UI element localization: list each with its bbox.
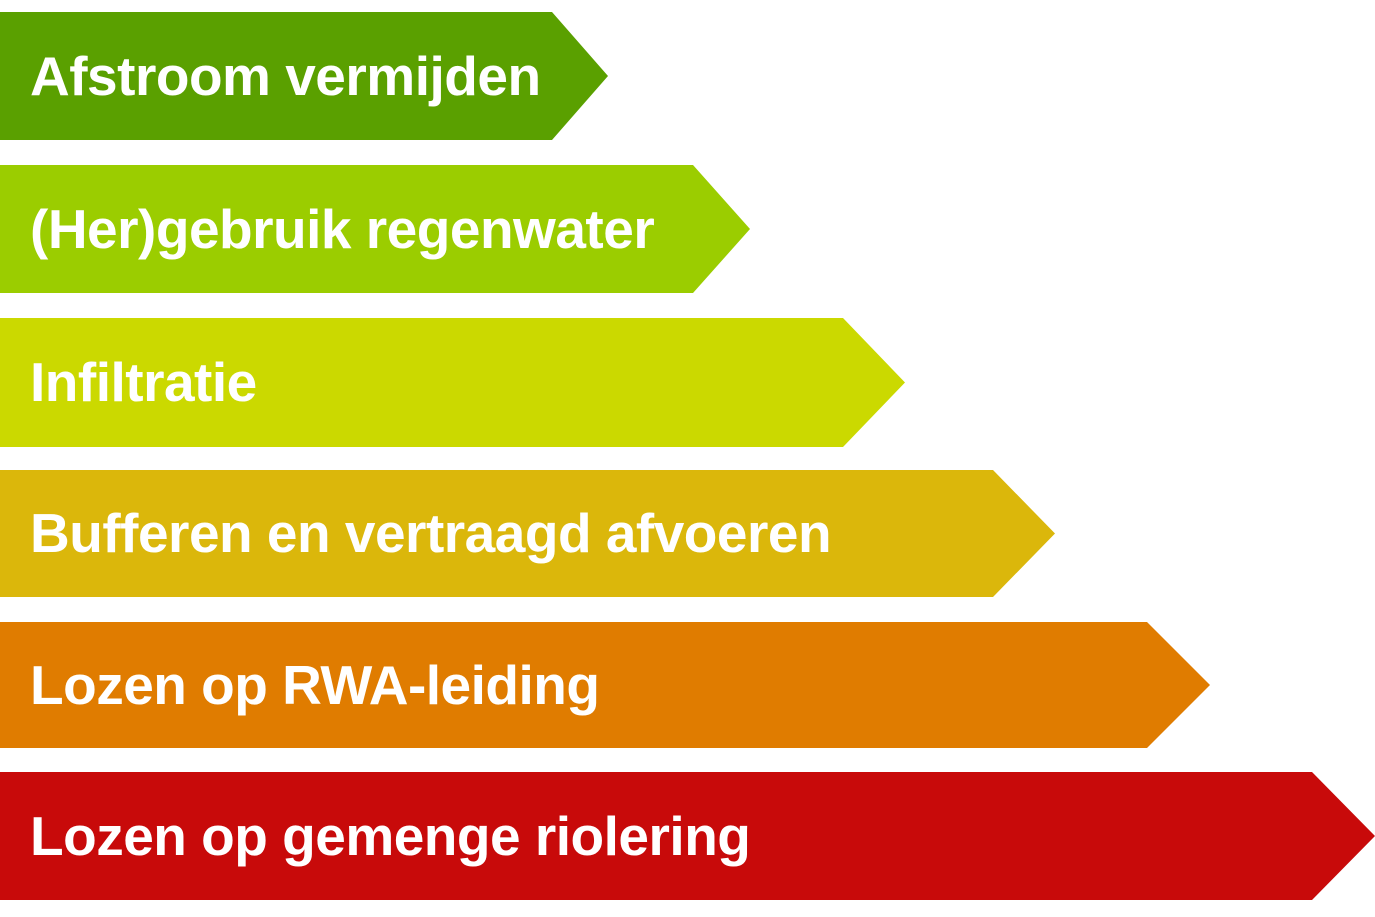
chevron-ladder-diagram: Afstroom vermijden(Her)gebruik regenwate… — [0, 0, 1375, 917]
chevron-step-3[interactable]: Infiltratie — [0, 318, 905, 447]
chevron-arrow-shape — [0, 12, 608, 140]
chevron-arrow-shape — [0, 772, 1375, 900]
chevron-step-6[interactable]: Lozen op gemenge riolering — [0, 772, 1375, 900]
chevron-arrow-fill — [0, 12, 608, 140]
chevron-step-4[interactable]: Bufferen en vertraagd afvoeren — [0, 470, 1055, 597]
chevron-arrow-fill — [0, 772, 1375, 900]
chevron-arrow-shape — [0, 622, 1210, 748]
chevron-arrow-fill — [0, 318, 905, 447]
chevron-arrow-shape — [0, 470, 1055, 597]
chevron-arrow-fill — [0, 622, 1210, 748]
chevron-step-1[interactable]: Afstroom vermijden — [0, 12, 608, 140]
chevron-arrow-fill — [0, 470, 1055, 597]
chevron-arrow-fill — [0, 165, 750, 293]
chevron-arrow-shape — [0, 318, 905, 447]
chevron-step-5[interactable]: Lozen op RWA-leiding — [0, 622, 1210, 748]
chevron-arrow-shape — [0, 165, 750, 293]
chevron-step-2[interactable]: (Her)gebruik regenwater — [0, 165, 750, 293]
